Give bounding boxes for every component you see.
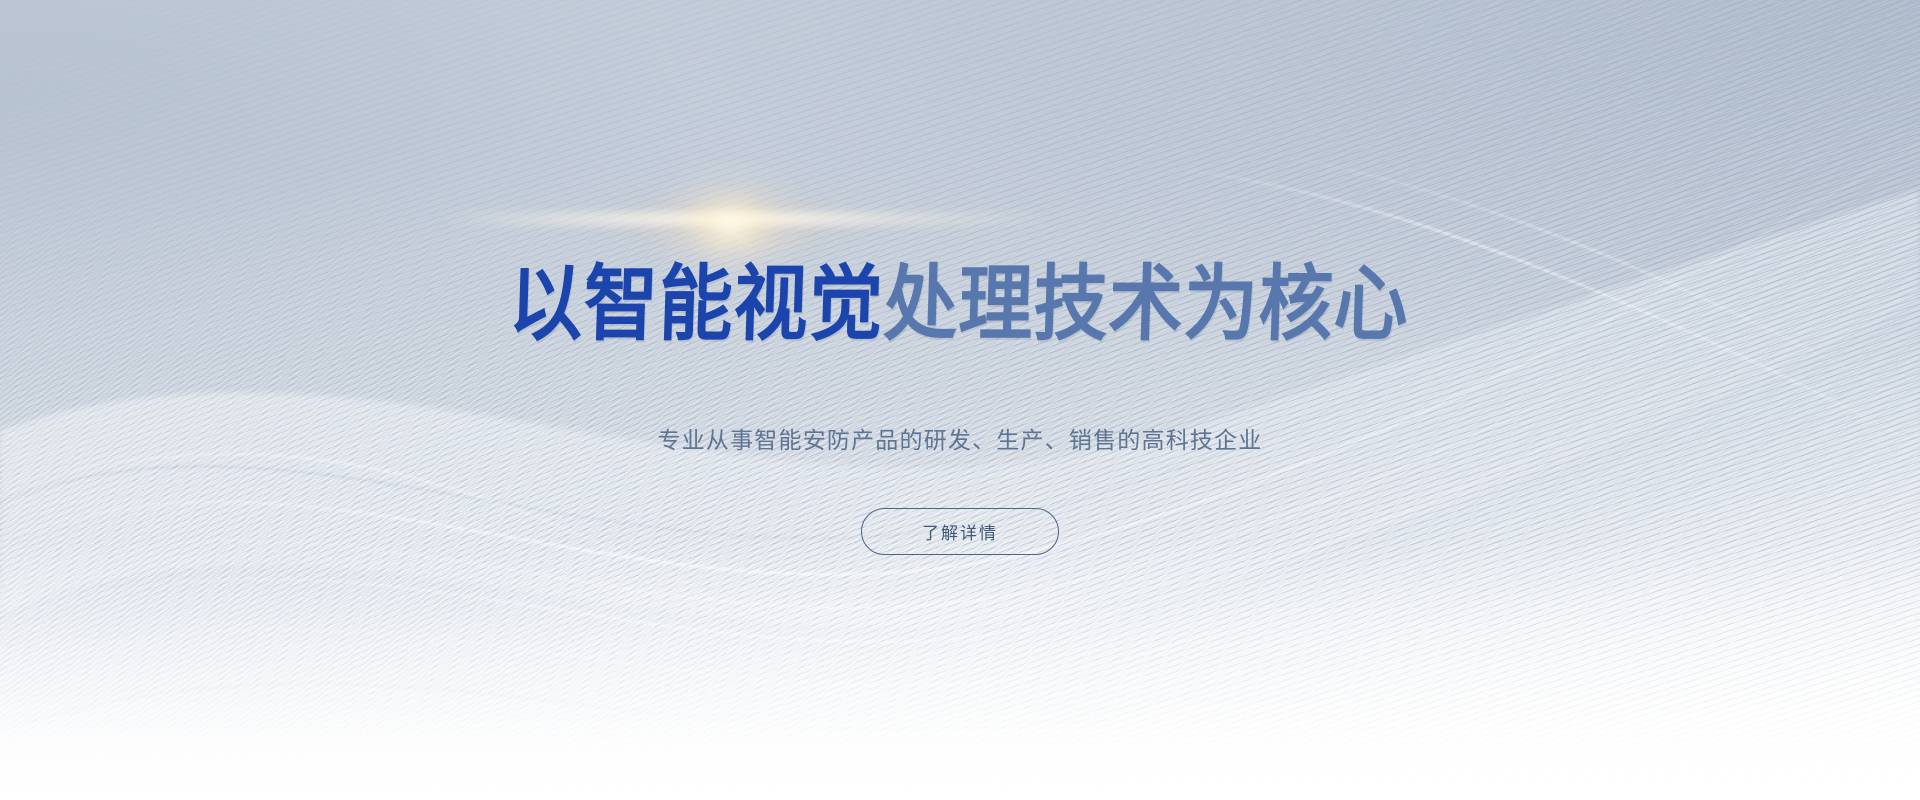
page-subtitle: 专业从事智能安防产品的研发、生产、销售的高科技企业: [0, 425, 1920, 457]
cta-container: 了解详情: [0, 508, 1920, 555]
learn-more-button[interactable]: 了解详情: [861, 508, 1059, 555]
headline-segment-primary: 以智能视觉: [507, 256, 885, 352]
hero-banner: 以智能视觉处理技术为核心 专业从事智能安防产品的研发、生产、销售的高科技企业 了…: [0, 0, 1920, 800]
hero-content: 以智能视觉处理技术为核心 专业从事智能安防产品的研发、生产、销售的高科技企业 了…: [0, 0, 1920, 800]
headline-segment-secondary: 处理技术为核心: [882, 256, 1410, 352]
page-title: 以智能视觉处理技术为核心: [0, 263, 1920, 346]
